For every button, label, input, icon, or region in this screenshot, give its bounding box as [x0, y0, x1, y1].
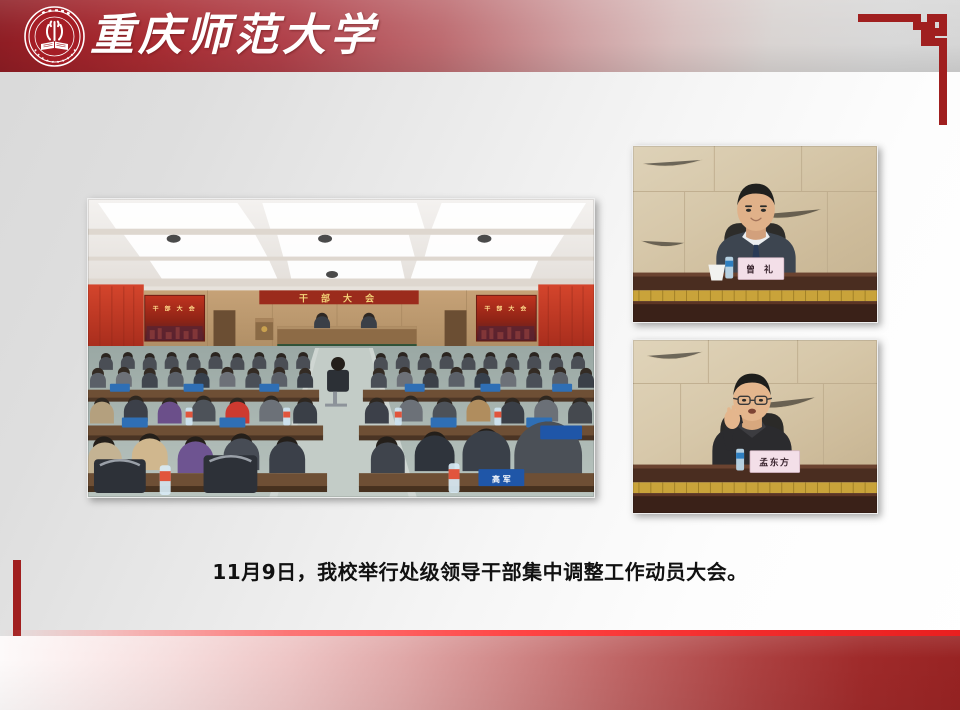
svg-text:孟东方: 孟东方 — [759, 457, 790, 469]
university-name: 重庆师范大学 — [90, 4, 378, 68]
svg-text:干 部 大 会: 干 部 大 会 — [153, 304, 197, 312]
footer-gradient-band — [0, 636, 960, 710]
slide-caption: 11月9日，我校举行处级领导干部集中调整工作动员大会。 — [0, 556, 960, 585]
speaker-portrait-photo-2[interactable]: 孟东方 — [632, 339, 878, 514]
svg-text:干 部 大 会: 干 部 大 会 — [299, 292, 379, 304]
svg-text:曾 礼: 曾 礼 — [746, 264, 776, 276]
chinese-fret-corner-icon-top-right — [850, 0, 960, 125]
conference-hall-photo[interactable]: 干 部 大 会 干 部 大 会 干 部 大 会 — [87, 198, 595, 498]
university-seal-icon — [24, 6, 85, 67]
svg-text:干 部 大 会: 干 部 大 会 — [484, 304, 528, 312]
slide-canvas: 重庆师范大学 — [0, 0, 960, 720]
svg-text:高 军: 高 军 — [492, 474, 511, 484]
speaker-portrait-photo-1[interactable]: 曾 礼 — [632, 145, 878, 323]
footer-white-strip — [0, 710, 960, 720]
